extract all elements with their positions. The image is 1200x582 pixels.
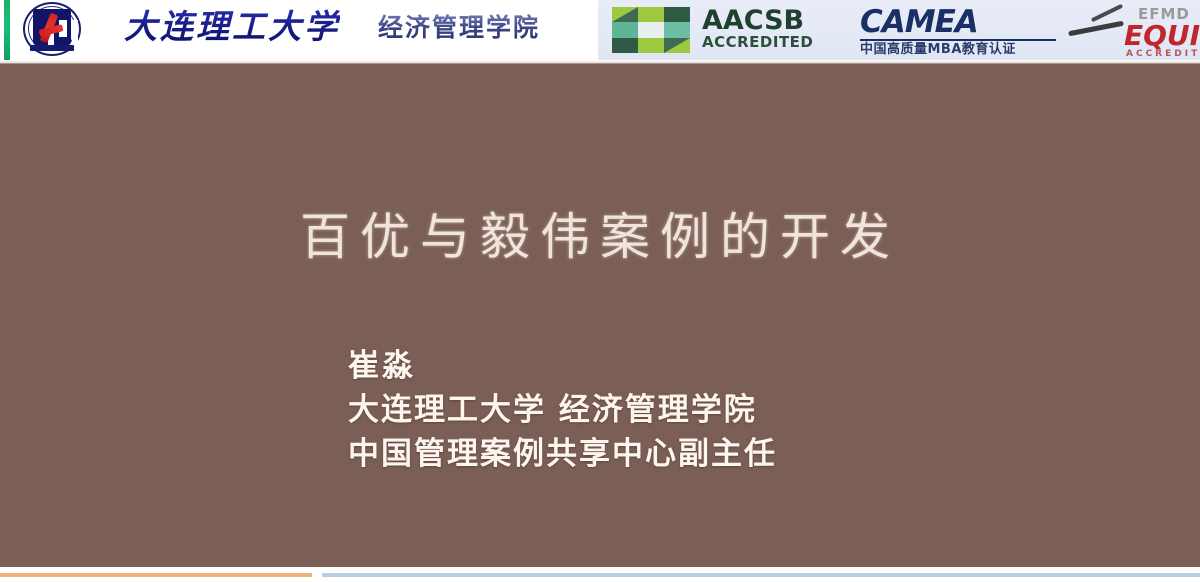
green-edge-accent [4, 0, 10, 60]
slide-content-area: 百优与毅伟案例的开发 崔淼 大连理工大学 经济管理学院 中国管理案例共享中心副主… [0, 64, 1200, 567]
camea-sublabel: 中国高质量MBA教育认证 [860, 41, 1060, 59]
equis-sublabel: ACCREDITED [1126, 49, 1200, 59]
aacsb-label: AACSB [702, 8, 813, 34]
school-name-text: 经济管理学院 [378, 10, 540, 46]
slide-header-banner: 大连理工大学 经济管理学院 AACSB ACCREDITED CAMEA 中国高… [0, 0, 1200, 64]
bottom-bar-orange-segment [0, 573, 312, 577]
camea-label: CAMEA [860, 7, 1060, 38]
equis-logo-block: EFMD EQUIS ACCREDITED [1066, 2, 1200, 60]
presenter-name: 崔淼 [348, 344, 1048, 388]
presenter-affiliation: 大连理工大学 经济管理学院 [348, 388, 1048, 432]
aacsb-logo-icon [612, 7, 690, 53]
university-name-text: 大连理工大学 [124, 4, 340, 50]
efmd-swoosh-icon [1068, 10, 1130, 44]
accreditation-logo-strip: AACSB ACCREDITED CAMEA 中国高质量MBA教育认证 EFMD… [598, 0, 1200, 60]
emblem-base-bar [30, 45, 74, 51]
presentation-slide-screen: 大连理工大学 经济管理学院 AACSB ACCREDITED CAMEA 中国高… [0, 0, 1200, 582]
slide-title: 百优与毅伟案例的开发 [0, 197, 1200, 269]
aacsb-text-block: AACSB ACCREDITED [702, 8, 813, 51]
bottom-accent-area [0, 567, 1200, 582]
aacsb-sublabel: ACCREDITED [702, 34, 813, 51]
dut-emblem-icon [22, 1, 84, 59]
presenter-info-block: 崔淼 大连理工大学 经济管理学院 中国管理案例共享中心副主任 [348, 344, 1048, 476]
emblem-core-block [33, 9, 71, 45]
equis-label: EQUIS [1124, 22, 1200, 50]
presenter-role: 中国管理案例共享中心副主任 [348, 432, 1048, 476]
bottom-bar-blue-segment [322, 573, 1200, 577]
camea-logo-block: CAMEA 中国高质量MBA教育认证 [860, 7, 1060, 59]
